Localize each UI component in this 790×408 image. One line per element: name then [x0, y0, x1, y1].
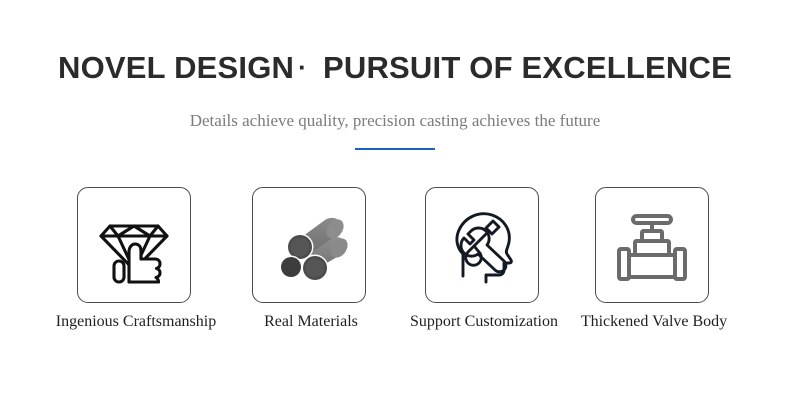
feature-icon-box [252, 187, 366, 303]
steel-pipes-icon [269, 205, 349, 285]
diamond-thumbs-up-icon [93, 204, 175, 286]
head-with-tools-icon [441, 204, 523, 286]
title-part-one: NOVEL DESIGN [58, 50, 294, 85]
feature-label: Support Customization [410, 313, 558, 331]
feature-item-support-customization[interactable]: Support Customization [425, 187, 543, 303]
feature-item-ingenious-craftsmanship[interactable]: Ingenious Craftsmanship [77, 187, 195, 303]
feature-label: Ingenious Craftsmanship [56, 313, 216, 331]
feature-icon-box [595, 187, 709, 303]
page-subtitle: Details achieve quality, precision casti… [0, 111, 790, 131]
feature-label: Thickened Valve Body [581, 313, 727, 331]
feature-list: Ingenious Craftsmanship [77, 187, 707, 347]
feature-icon-box [77, 187, 191, 303]
feature-label: Real Materials [264, 313, 358, 331]
title-divider [355, 148, 435, 150]
feature-icon-box [425, 187, 539, 303]
promo-banner: NOVEL DESIGN·PURSUIT OF EXCELLENCE Detai… [0, 0, 790, 408]
feature-item-thickened-valve-body[interactable]: Thickened Valve Body [595, 187, 713, 303]
gate-valve-icon [611, 204, 693, 286]
title-separator-dot: · [294, 52, 309, 82]
title-part-two: PURSUIT OF EXCELLENCE [309, 50, 732, 85]
page-title: NOVEL DESIGN·PURSUIT OF EXCELLENCE [0, 50, 790, 86]
feature-item-real-materials[interactable]: Real Materials [252, 187, 370, 303]
